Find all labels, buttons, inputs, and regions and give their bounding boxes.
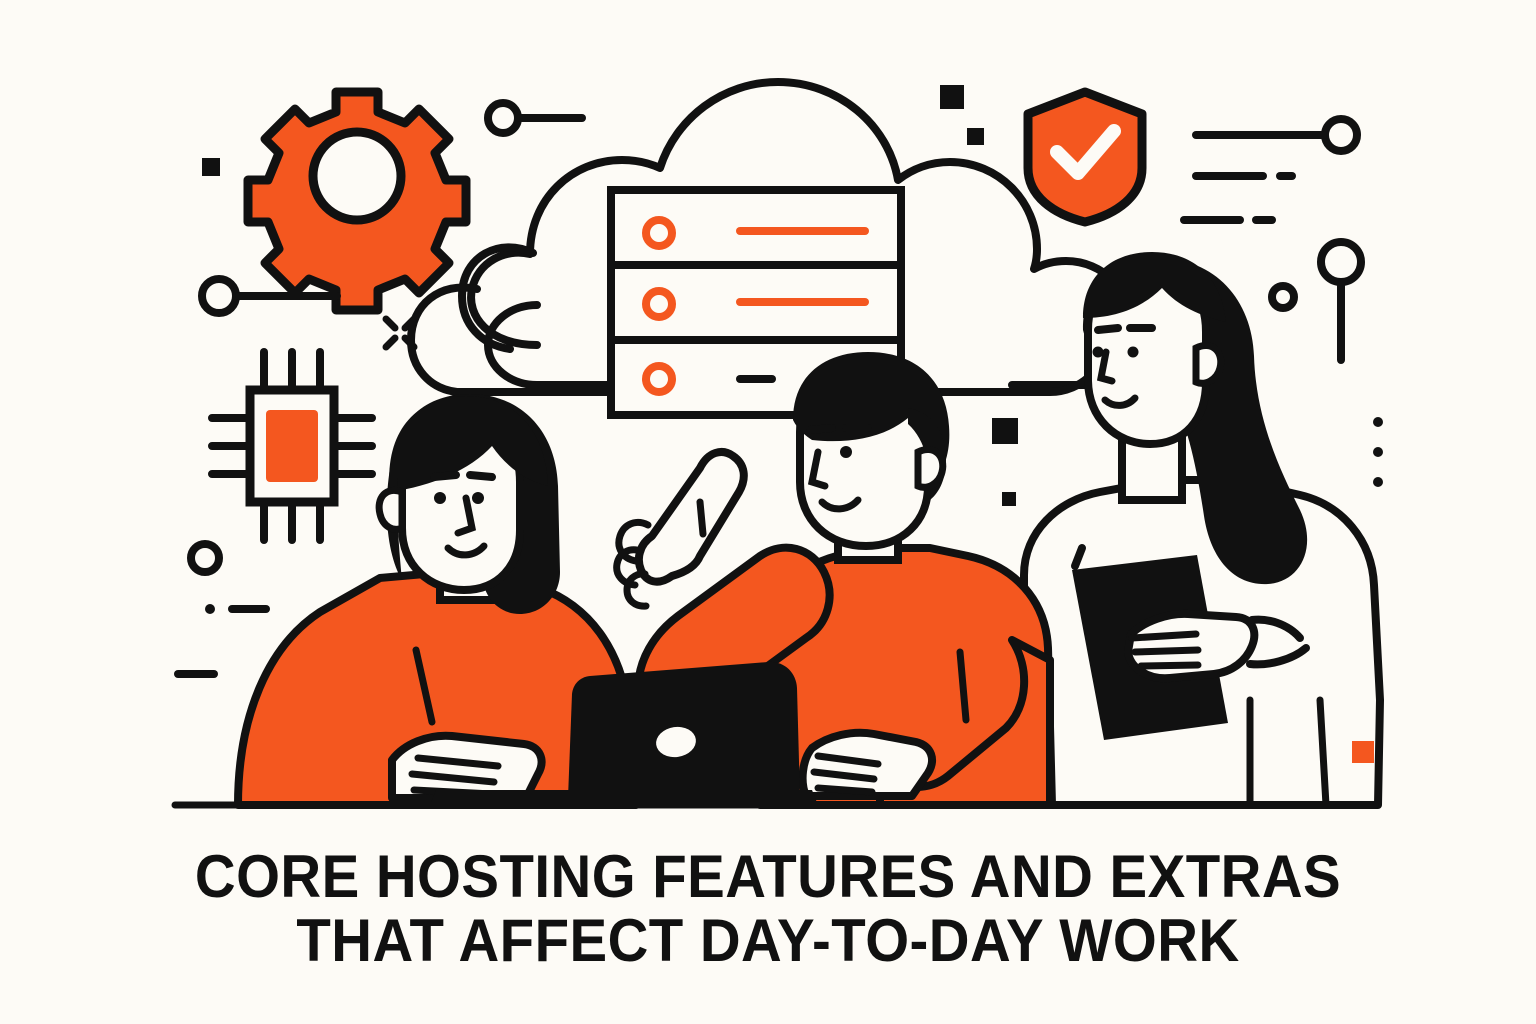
shield-check-icon xyxy=(1028,92,1142,222)
title-line-2: THAT AFFECT DAY-TO-DAY WORK xyxy=(46,909,1490,973)
decor-square-orange xyxy=(1352,741,1374,763)
title-line-1: CORE HOSTING FEATURES AND EXTRAS xyxy=(46,845,1490,909)
decor-square-black-man2 xyxy=(1002,492,1016,506)
title-block: CORE HOSTING FEATURES AND EXTRAS THAT AF… xyxy=(0,845,1536,972)
decor-dot-left-1 xyxy=(205,604,215,614)
decor-square-black-small xyxy=(202,158,220,176)
decor-square-black-top xyxy=(940,85,964,109)
illustration-canvas: CORE HOSTING FEATURES AND EXTRAS THAT AF… xyxy=(0,0,1536,1024)
decor-square-black-man xyxy=(992,418,1018,444)
decor-square-black-mid xyxy=(967,128,984,145)
gear-icon xyxy=(248,92,466,310)
